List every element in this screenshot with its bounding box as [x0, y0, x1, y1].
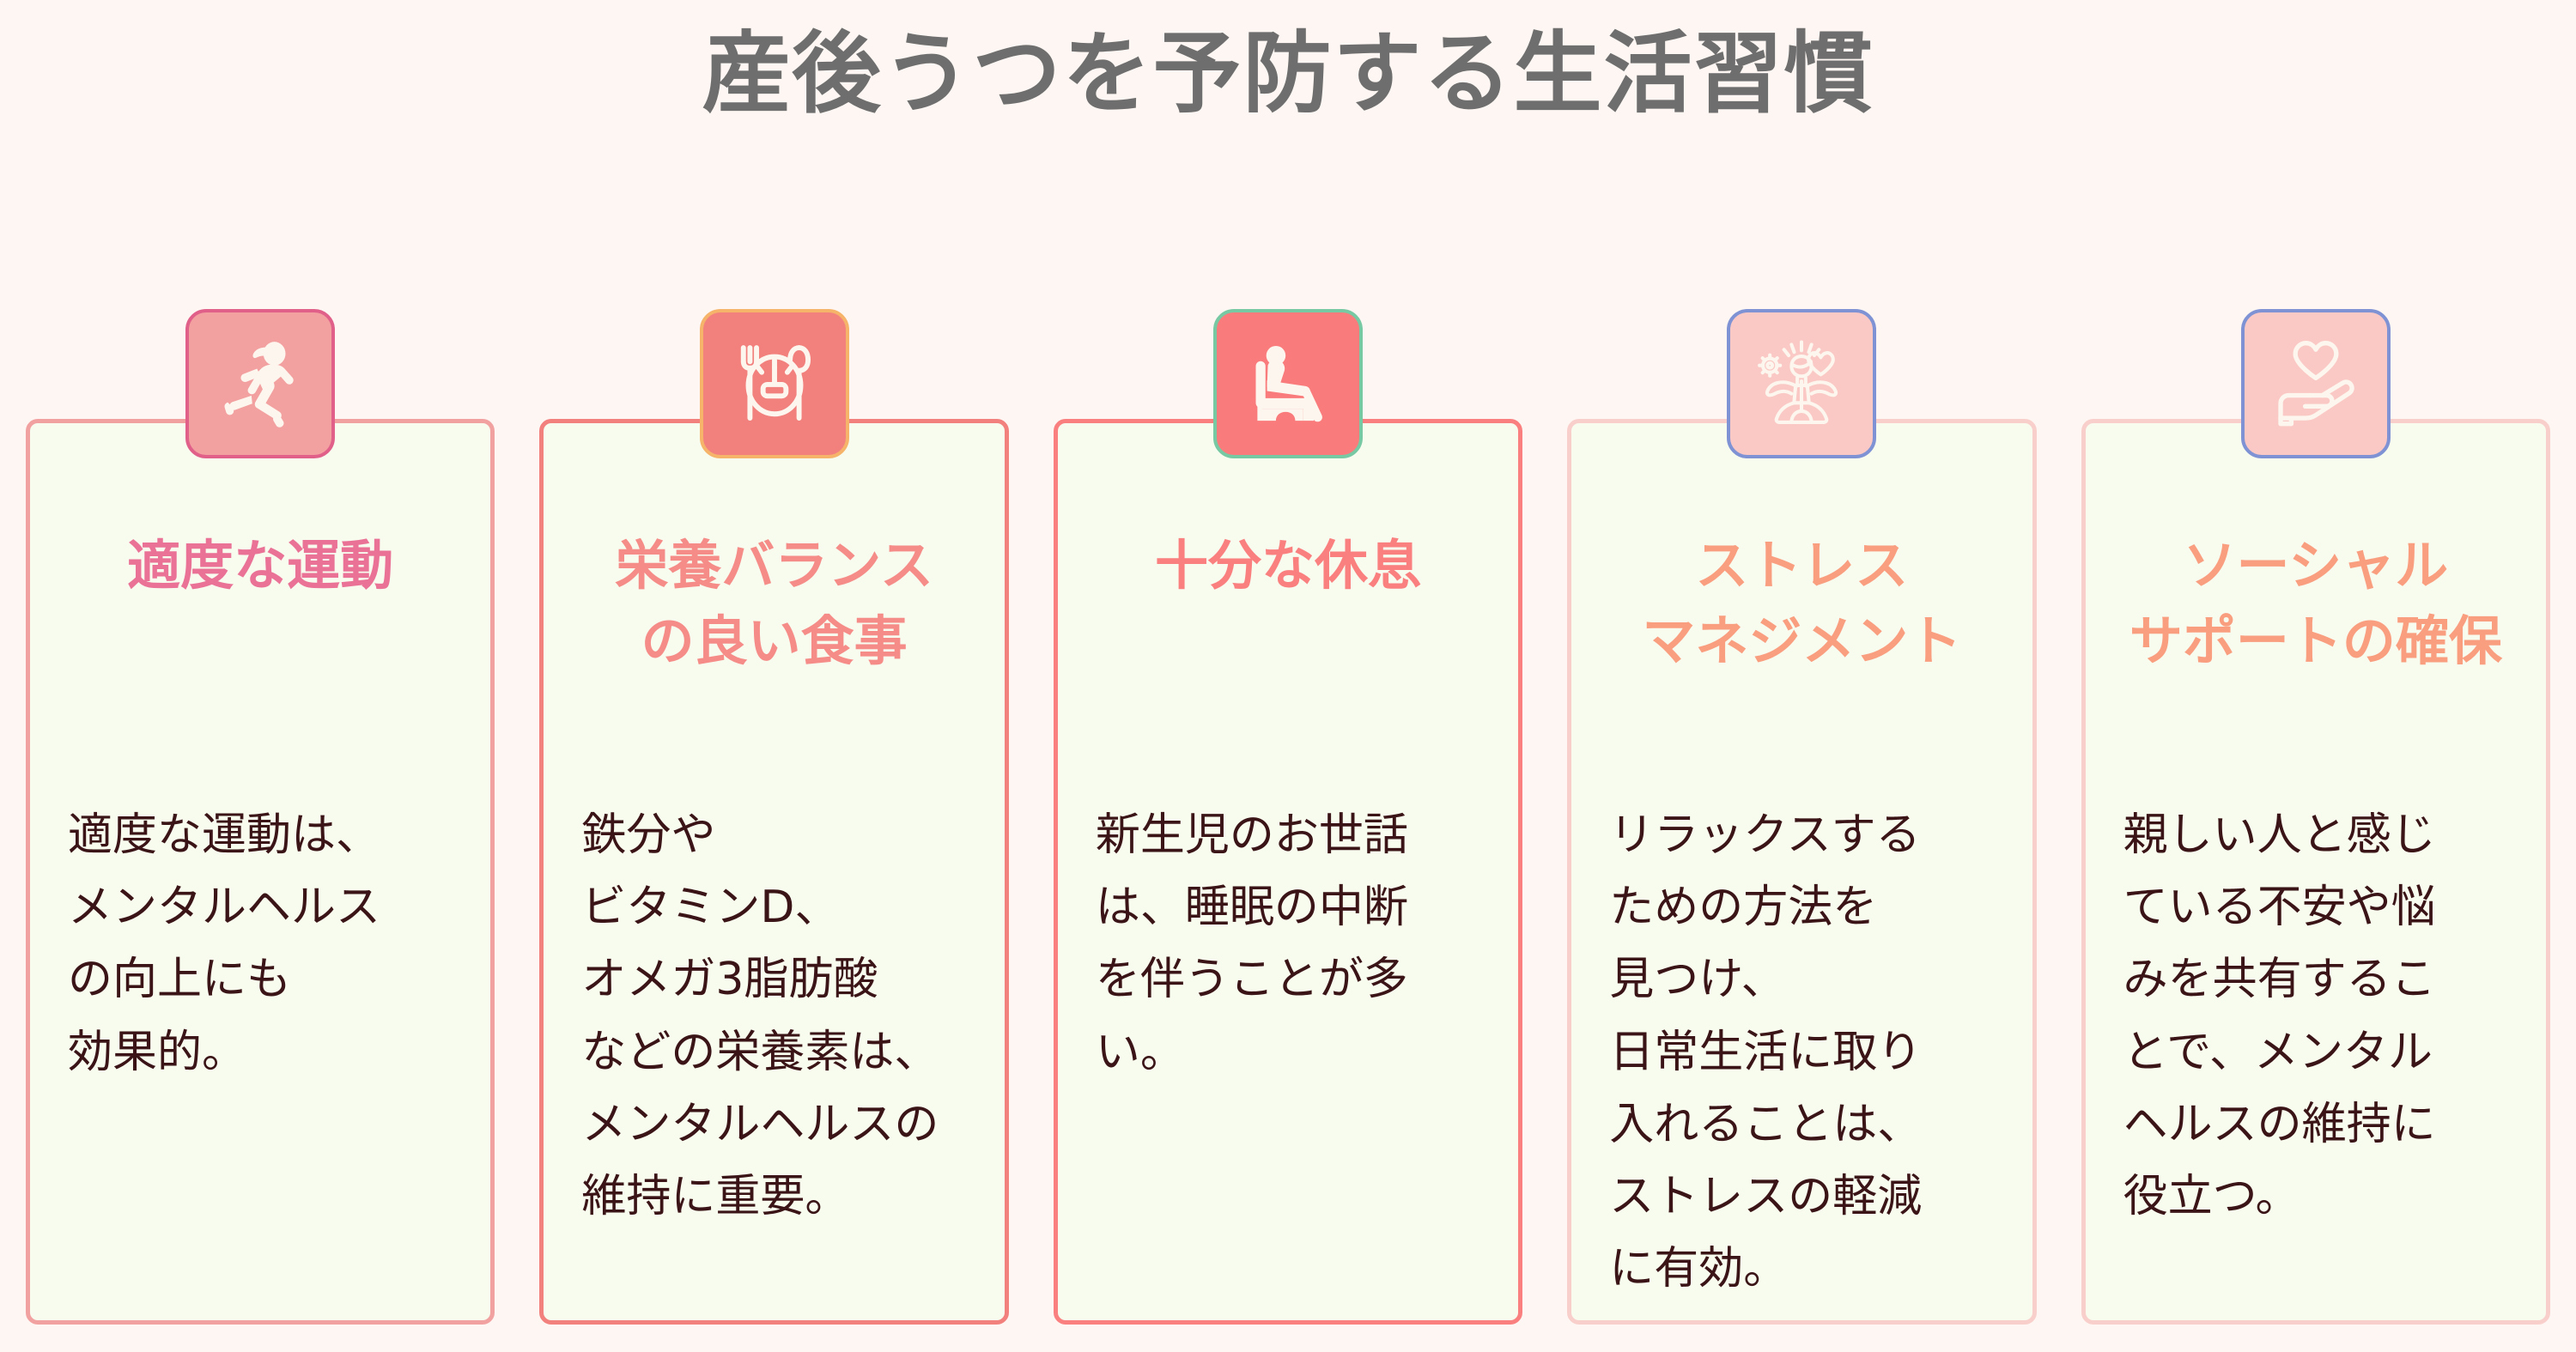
badge-rest [1213, 309, 1363, 458]
meditating-person-icon [1748, 330, 1855, 437]
plate-fork-spoon-icon [722, 331, 827, 436]
card-exercise[interactable]: 適度な運動 適度な運動は、 メンタルヘルス の向上にも 効果的。 [26, 419, 495, 1325]
card-title-rest: 十分な休息 [1082, 528, 1494, 603]
badge-nutrition [700, 309, 849, 458]
running-person-icon [210, 333, 311, 434]
card-body-social-support: 親しい人と感じ ている不安や悩 みを共有するこ とで、メンタル ヘルスの維持に … [2123, 799, 2520, 1233]
card-title-exercise: 適度な運動 [54, 528, 466, 603]
badge-exercise [185, 309, 335, 458]
card-stress-management[interactable]: ストレス マネジメント リラックスする ための方法を 見つけ、 日常生活に取り … [1567, 419, 2036, 1325]
card-body-nutrition: 鉄分や ビタミンD、 オメガ3脂肪酸 などの栄養素は、 メンタルヘルスの 維持に… [581, 799, 978, 1233]
badge-social-support [2241, 309, 2391, 458]
card-nutrition[interactable]: 栄養バランス の良い食事 鉄分や ビタミンD、 オメガ3脂肪酸 などの栄養素は、… [539, 419, 1008, 1325]
card-body-exercise: 適度な運動は、 メンタルヘルス の向上にも 効果的。 [68, 799, 465, 1088]
card-title-stress-management: ストレス マネジメント [1595, 528, 2008, 679]
heart-in-hand-icon [2263, 331, 2368, 436]
card-body-stress-management: リラックスする ための方法を 見つけ、 日常生活に取り 入れることは、 ストレス… [1609, 799, 2006, 1306]
card-body-rest: 新生児のお世話 は、睡眠の中断 を伴うことが多 い。 [1096, 799, 1492, 1088]
reclining-chair-icon [1236, 332, 1340, 435]
page-title: 産後うつを予防する生活習慣 [0, 19, 2576, 130]
card-title-nutrition: 栄養バランス の良い食事 [568, 528, 980, 679]
card-rest[interactable]: 十分な休息 新生児のお世話 は、睡眠の中断 を伴うことが多 い。 [1054, 419, 1522, 1325]
infographic-root: 産後うつを予防する生活習慣 適度な運動 適度な運動は、 [0, 0, 2576, 1352]
card-social-support[interactable]: ソーシャル サポートの確保 親しい人と感じ ている不安や悩 みを共有するこ とで… [2081, 419, 2550, 1325]
card-title-social-support: ソーシャル サポートの確保 [2110, 528, 2522, 679]
badge-stress-management [1727, 309, 1876, 458]
cards-row: 適度な運動 適度な運動は、 メンタルヘルス の向上にも 効果的。 [26, 419, 2550, 1325]
